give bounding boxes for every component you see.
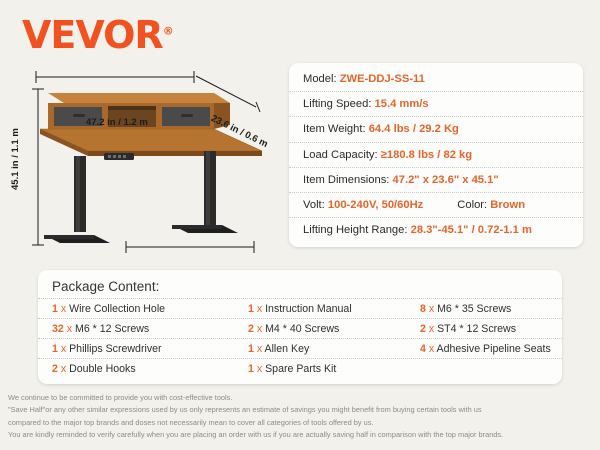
dimension-width-label: 47.2 in / 1.2 m bbox=[86, 117, 148, 128]
package-item: 1 x Allen Key bbox=[234, 343, 406, 355]
spec-row-item-dimensions: Item Dimensions: 47.2" x 23.6" x 45.1" bbox=[289, 167, 583, 192]
package-item-multiplier: x bbox=[61, 363, 66, 375]
package-item-name: ST4 * 12 Screws bbox=[437, 323, 516, 335]
brand-name: VEVOR bbox=[22, 13, 163, 57]
spec-value: 47.2" x 23.6" x 45.1" bbox=[393, 174, 499, 186]
spec-value: 64.4 lbs / 29.2 Kg bbox=[369, 123, 459, 135]
package-item-qty: 1 bbox=[52, 343, 58, 355]
package-item-name: Allen Key bbox=[265, 343, 310, 355]
package-row: 2 x Double Hooks 1 x Spare Parts Kit bbox=[38, 358, 562, 378]
package-item: 1 x Instruction Manual bbox=[234, 303, 406, 315]
disclaimer-line-3: compared to the major top brands and dos… bbox=[8, 417, 594, 428]
control-panel bbox=[104, 153, 134, 160]
package-content-title: Package Content: bbox=[38, 274, 562, 298]
package-item: 1 x Spare Parts Kit bbox=[234, 363, 406, 375]
registered-trademark-icon: ® bbox=[163, 24, 173, 37]
disclaimer-line-4: You are kindly reminded to verify carefu… bbox=[8, 429, 594, 440]
spec-row-model: Model: ZWE-DDJ-SS-11 bbox=[289, 67, 583, 91]
package-item-multiplier: x bbox=[257, 323, 262, 335]
package-item: 4 x Adhesive Pipeline Seats bbox=[406, 343, 562, 355]
package-item-multiplier: x bbox=[429, 323, 434, 335]
desk-drawing bbox=[18, 55, 288, 265]
spec-label: Item Dimensions: bbox=[303, 174, 389, 186]
package-item-multiplier: x bbox=[67, 323, 72, 335]
spec-label: Model: bbox=[303, 73, 337, 85]
package-item-multiplier: x bbox=[429, 343, 434, 355]
spec-row-lifting-speed: Lifting Speed: 15.4 mm/s bbox=[289, 91, 583, 116]
specifications-card: Model: ZWE-DDJ-SS-11 Lifting Speed: 15.4… bbox=[289, 63, 583, 247]
package-item-name: Double Hooks bbox=[69, 363, 136, 375]
package-row: 32 x M6 * 12 Screws 2 x M4 * 40 Screws 2… bbox=[38, 318, 562, 338]
package-item-qty: 1 bbox=[248, 363, 254, 375]
package-item: 1 x Phillips Screwdriver bbox=[38, 343, 234, 355]
color-value: Brown bbox=[490, 199, 525, 211]
package-item-qty: 1 bbox=[52, 303, 58, 315]
volt-value: 100-240V, 50/60Hz bbox=[328, 199, 423, 211]
package-row: 1 x Wire Collection Hole 1 x Instruction… bbox=[38, 298, 562, 318]
package-item-multiplier: x bbox=[61, 343, 66, 355]
package-item-name: Instruction Manual bbox=[265, 303, 352, 315]
color-label: Color: bbox=[457, 199, 487, 211]
package-item-multiplier: x bbox=[257, 303, 262, 315]
disclaimer-line-1: We continue to be committed to provide y… bbox=[8, 392, 594, 403]
package-item-name: M6 * 12 Screws bbox=[75, 323, 149, 335]
desk-legs bbox=[44, 151, 238, 243]
package-item-multiplier: x bbox=[429, 303, 434, 315]
spec-label: Lifting Speed: bbox=[303, 98, 371, 110]
package-item-empty bbox=[406, 363, 562, 375]
package-item-name: Adhesive Pipeline Seats bbox=[437, 343, 551, 355]
desk-top bbox=[40, 129, 262, 156]
package-item-name: M6 * 35 Screws bbox=[437, 303, 511, 315]
package-item-multiplier: x bbox=[257, 363, 262, 375]
spec-label: Item Weight: bbox=[303, 123, 366, 135]
volt-label: Volt: bbox=[303, 199, 325, 211]
spec-value: ≥180.8 lbs / 82 kg bbox=[381, 149, 472, 161]
spec-row-item-weight: Item Weight: 64.4 lbs / 29.2 Kg bbox=[289, 116, 583, 141]
package-row: 1 x Phillips Screwdriver 1 x Allen Key 4… bbox=[38, 338, 562, 358]
package-item: 2 x M4 * 40 Screws bbox=[234, 323, 406, 335]
package-item-qty: 2 bbox=[420, 323, 426, 335]
dimension-height-label: 45.1 in / 1.1 m bbox=[10, 128, 21, 190]
package-item-name: M4 * 40 Screws bbox=[265, 323, 339, 335]
spec-row-lifting-height-range: Lifting Height Range: 28.3"-45.1" / 0.72… bbox=[289, 217, 583, 242]
vevor-logo: VEVOR® bbox=[22, 16, 173, 54]
package-item-name: Wire Collection Hole bbox=[69, 303, 165, 315]
package-item-qty: 32 bbox=[52, 323, 64, 335]
volt-group: Volt: 100-240V, 50/60Hz bbox=[303, 197, 423, 213]
spec-value: 15.4 mm/s bbox=[375, 98, 429, 110]
spec-label: Load Capacity: bbox=[303, 149, 378, 161]
package-item-qty: 1 bbox=[248, 303, 254, 315]
package-item-qty: 2 bbox=[248, 323, 254, 335]
spec-row-load-capacity: Load Capacity: ≥180.8 lbs / 82 kg bbox=[289, 142, 583, 167]
spec-label: Lifting Height Range: bbox=[303, 224, 407, 236]
legal-disclaimer: We continue to be committed to provide y… bbox=[8, 392, 594, 442]
package-item: 1 x Wire Collection Hole bbox=[38, 303, 234, 315]
package-item: 2 x Double Hooks bbox=[38, 363, 234, 375]
spec-value: ZWE-DDJ-SS-11 bbox=[340, 73, 425, 85]
package-item: 2 x ST4 * 12 Screws bbox=[406, 323, 562, 335]
spec-value: 28.3"-45.1" / 0.72-1.1 m bbox=[411, 224, 532, 236]
color-group: Color: Brown bbox=[457, 197, 525, 213]
package-content-card: Package Content: 1 x Wire Collection Hol… bbox=[38, 270, 562, 384]
package-item-qty: 1 bbox=[248, 343, 254, 355]
package-item-multiplier: x bbox=[257, 343, 262, 355]
package-item-multiplier: x bbox=[61, 303, 66, 315]
product-illustration: 47.2 in / 1.2 m 23.6 in / 0.6 m 45.1 in … bbox=[18, 55, 288, 265]
package-item: 8 x M6 * 35 Screws bbox=[406, 303, 562, 315]
package-item-name: Phillips Screwdriver bbox=[69, 343, 161, 355]
package-item: 32 x M6 * 12 Screws bbox=[38, 323, 234, 335]
package-item-qty: 8 bbox=[420, 303, 426, 315]
disclaimer-line-2: "Save Half"or any other similar expressi… bbox=[8, 404, 594, 415]
spec-row-volt-color: Volt: 100-240V, 50/60Hz Color: Brown bbox=[289, 192, 583, 217]
package-item-qty: 2 bbox=[52, 363, 58, 375]
package-item-qty: 4 bbox=[420, 343, 426, 355]
package-item-name: Spare Parts Kit bbox=[265, 363, 336, 375]
